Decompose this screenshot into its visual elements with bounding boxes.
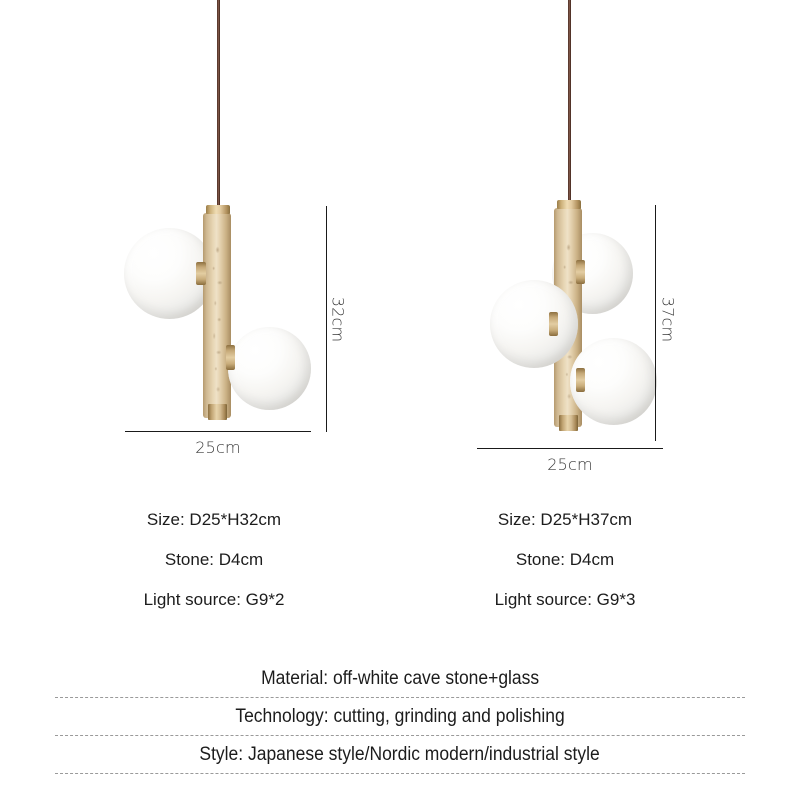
footer-attributes: Material: off-white cave stone+glass Tec… — [0, 660, 800, 774]
power-cord-right — [568, 0, 571, 200]
brass-base-collar-left — [208, 404, 227, 420]
glass-globe-middle-left — [490, 280, 578, 368]
height-dimension-line-left — [326, 206, 327, 432]
spec-size-right: Size: D25*H37cm — [365, 500, 765, 540]
spec-list-right: Size: D25*H37cm Stone: D4cm Light source… — [365, 500, 765, 620]
glass-globe-lower-right — [228, 327, 311, 410]
width-dimension-line-right — [477, 448, 663, 449]
spec-stone-right: Stone: D4cm — [365, 540, 765, 580]
product-spec-sheet: 25cm 32cm Size: D25*H32cm Stone: D4cm Li… — [0, 0, 800, 800]
brass-base-collar-right — [559, 415, 578, 431]
height-dimension-label-left: 32cm — [329, 295, 348, 345]
spec-light-source-right: Light source: G9*3 — [365, 580, 765, 620]
footer-row-style: Style: Japanese style/Nordic modern/indu… — [0, 736, 800, 774]
brass-socket-lower-right-2 — [576, 368, 585, 392]
footer-technology-text: Technology: cutting, grinding and polish… — [235, 706, 564, 728]
brass-socket-middle-left — [549, 312, 558, 336]
brass-socket-lower-right — [226, 345, 235, 370]
footer-row-technology: Technology: cutting, grinding and polish… — [0, 698, 800, 736]
product-card-right: 25cm 37cm Size: D25*H37cm Stone: D4cm Li… — [400, 0, 800, 640]
footer-material-text: Material: off-white cave stone+glass — [261, 668, 539, 690]
brass-cap-right — [557, 200, 581, 209]
travertine-rod-left — [203, 213, 231, 418]
product-card-left: 25cm 32cm Size: D25*H32cm Stone: D4cm Li… — [0, 0, 400, 640]
width-dimension-label-right: 25cm — [510, 455, 630, 474]
height-dimension-label-right: 37cm — [659, 295, 678, 345]
width-dimension-line-left — [125, 431, 311, 432]
footer-style-text: Style: Japanese style/Nordic modern/indu… — [200, 744, 600, 766]
width-dimension-label-left: 25cm — [158, 438, 278, 457]
spec-size-left: Size: D25*H32cm — [14, 500, 414, 540]
footer-row-material: Material: off-white cave stone+glass — [0, 660, 800, 698]
spec-light-source-left: Light source: G9*2 — [14, 580, 414, 620]
spec-list-left: Size: D25*H32cm Stone: D4cm Light source… — [14, 500, 414, 620]
height-dimension-line-right — [655, 205, 656, 441]
spec-stone-left: Stone: D4cm — [14, 540, 414, 580]
footer-divider-3 — [55, 773, 745, 774]
power-cord-left — [217, 0, 220, 205]
brass-cap-left — [206, 205, 230, 214]
brass-socket-upper-right — [576, 260, 585, 284]
brass-socket-upper-left — [196, 262, 206, 285]
